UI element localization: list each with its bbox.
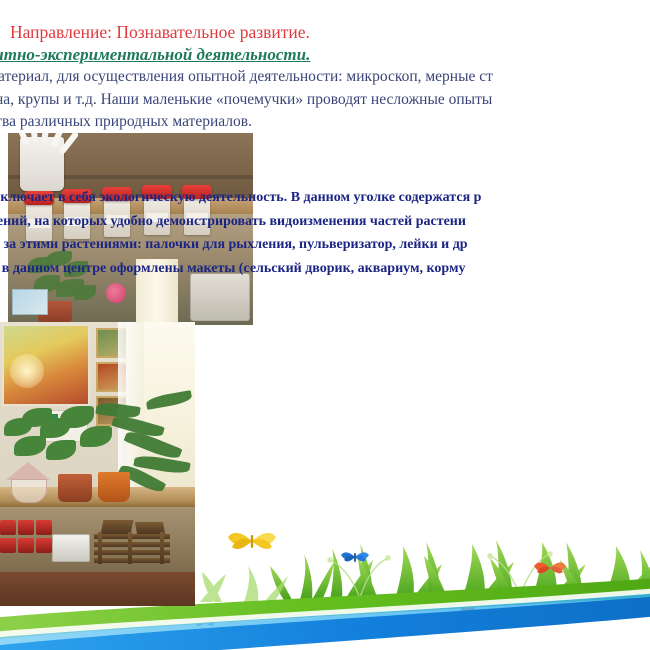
yellow-butterfly	[228, 533, 276, 549]
paragraph-line: и т.д.	[0, 280, 650, 304]
paragraph-line: от свойства различных природных материал…	[0, 111, 650, 134]
paragraph-nature-corner: природы» включает в себя экологическую д…	[0, 186, 650, 304]
photo2-autumn-poster	[2, 324, 90, 406]
slide-title: Направление: Познавательное развитие.	[10, 22, 650, 43]
paragraph-line: одится материал, для осуществления опытн…	[0, 66, 650, 89]
photo2-white-tray	[52, 534, 90, 562]
photo2-orange-pot	[98, 472, 130, 502]
paragraph-line: природы» включает в себя экологическую д…	[0, 186, 650, 210]
photo2-log-house-model	[90, 518, 180, 570]
presentation-slide: Направление: Познавательное развитие. тр…	[0, 0, 650, 650]
photo2-shelf-bottom	[0, 572, 195, 606]
paragraph-line: ни, семена, крупы и т.д. Наши маленькие …	[0, 89, 650, 112]
paragraph-line: атных растений, на которых удобно демонс…	[0, 210, 650, 234]
photo2-bird-feeder-model	[6, 462, 50, 504]
paragraph-line: х растений, в данном центре оформлены ма…	[0, 257, 650, 281]
blue-butterfly	[341, 552, 369, 562]
paragraph-line: ты по уходу за этими растениями: палочки…	[0, 233, 650, 257]
photo2-clay-pot	[58, 474, 92, 502]
photo-nature-corner	[0, 322, 195, 606]
paragraph-experiment-materials: одится материал, для осуществления опытн…	[0, 66, 650, 134]
slide-subtitle: тр опытно-экспериментальной деятельности…	[0, 44, 650, 66]
